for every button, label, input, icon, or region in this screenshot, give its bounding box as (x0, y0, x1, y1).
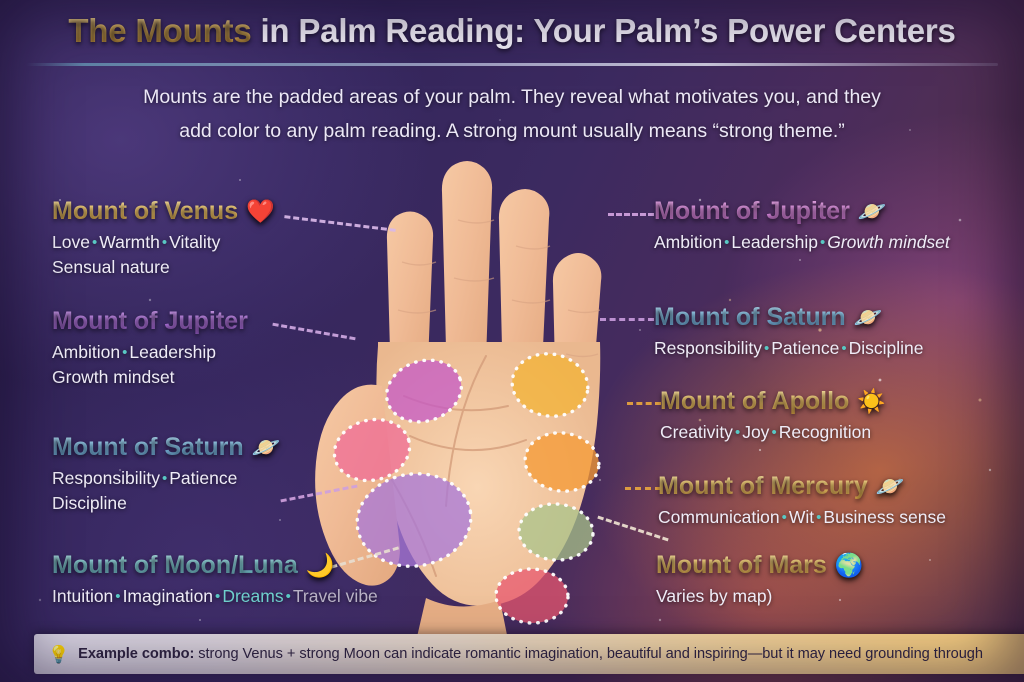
jupiter-planet-icon: 🪐 (858, 200, 887, 223)
title-highlight: The Mounts (68, 12, 251, 49)
entry-mount-of-venus[interactable]: Mount of Venus ❤️ Love•Warmth•Vitality S… (52, 196, 275, 280)
desc-line-1: Ambition•Leadership•Growth mindset (654, 232, 950, 252)
ringed-planet-icon: 🪐 (252, 436, 281, 459)
entry-description: Intuition•Imagination•Dreams•Travel vibe (52, 584, 378, 609)
title-divider (26, 63, 998, 66)
entry-description: Varies by map) (656, 584, 863, 609)
subtitle-line-1: Mounts are the padded areas of your palm… (60, 80, 964, 114)
desc-line-1: Love•Warmth•Vitality (52, 232, 220, 252)
poster-header: The Mounts in Palm Reading: Your Palm’s … (0, 12, 1024, 50)
entry-heading-text: Mount of Mars (656, 550, 827, 580)
sun-icon: ☀️ (857, 390, 886, 413)
entry-heading-text: Mount of Saturn (654, 302, 846, 332)
connector-mercury-right (625, 487, 661, 490)
desc-line-1: Ambition•Leadership (52, 342, 216, 362)
entry-heading-text: Mount of Apollo (660, 386, 849, 416)
mount-region-upper-mars[interactable] (495, 568, 569, 624)
desc-line-2: Sensual nature (52, 257, 170, 277)
desc-line-1: Responsibility•Patience (52, 468, 237, 488)
banner-label: Example combo: (78, 646, 194, 662)
entry-heading: Mount of Moon/Luna 🌙 (52, 550, 378, 580)
entry-description: Creativity•Joy•Recognition (660, 420, 886, 445)
entry-description: Love•Warmth•Vitality Sensual nature (52, 230, 275, 280)
entry-heading-text: Mount of Jupiter (52, 306, 248, 336)
entry-description: Ambition•Leadership•Growth mindset (654, 230, 950, 255)
page-title: The Mounts in Palm Reading: Your Palm’s … (0, 12, 1024, 50)
desc-line-1: Responsibility•Patience•Discipline (654, 338, 924, 358)
connector-jupiter-right (608, 213, 654, 216)
entry-mount-of-saturn-left[interactable]: Mount of Saturn 🪐 Responsibility•Patienc… (52, 432, 280, 516)
entry-heading-text: Mount of Moon/Luna (52, 550, 298, 580)
entry-description: Responsibility•Patience Discipline (52, 466, 280, 516)
desc-line-1: Intuition•Imagination•Dreams•Travel vibe (52, 586, 378, 606)
entry-heading: Mount of Mars 🌍 (656, 550, 863, 580)
entry-heading: Mount of Mercury 🪐 (658, 471, 946, 501)
desc-line-2: Growth mindset (52, 367, 175, 387)
entry-heading-text: Mount of Mercury (658, 471, 868, 501)
desc-line-1: Varies by map) (656, 586, 772, 606)
mars-planet-icon: 🌍 (835, 554, 864, 577)
entry-mount-of-jupiter-right[interactable]: Mount of Jupiter 🪐 Ambition•Leadership•G… (654, 196, 950, 255)
entry-heading: Mount of Saturn 🪐 (654, 302, 924, 332)
entry-heading: Mount of Saturn 🪐 (52, 432, 280, 462)
title-rest: in Palm Reading: Your Palm’s Power Cente… (252, 12, 956, 49)
infographic-poster: The Mounts in Palm Reading: Your Palm’s … (0, 0, 1024, 682)
entry-heading: Mount of Venus ❤️ (52, 196, 275, 226)
entry-heading-text: Mount of Saturn (52, 432, 244, 462)
entry-mount-of-jupiter-left[interactable]: Mount of Jupiter Ambition•Leadership Gro… (52, 306, 248, 390)
entry-heading-text: Mount of Jupiter (654, 196, 850, 226)
saturn-planet-icon: 🪐 (854, 306, 883, 329)
lightbulb-icon: 💡 (48, 646, 69, 663)
desc-line-1: Communication•Wit•Business sense (658, 507, 946, 527)
entry-mount-of-moon[interactable]: Mount of Moon/Luna 🌙 Intuition•Imaginati… (52, 550, 378, 609)
connector-apollo-right (627, 402, 661, 405)
entry-mount-of-mars[interactable]: Mount of Mars 🌍 Varies by map) (656, 550, 863, 609)
green-planet-icon: 🪐 (876, 475, 905, 498)
entry-heading: Mount of Apollo ☀️ (660, 386, 886, 416)
example-combo-banner: 💡 Example combo: strong Venus + strong M… (34, 634, 1024, 674)
entry-heading-text: Mount of Venus (52, 196, 238, 226)
desc-line-1: Creativity•Joy•Recognition (660, 422, 871, 442)
subtitle-line-2: add color to any palm reading. A strong … (60, 114, 964, 148)
entry-heading: Mount of Jupiter (52, 306, 248, 336)
desc-line-2: Discipline (52, 493, 127, 513)
entry-heading: Mount of Jupiter 🪐 (654, 196, 950, 226)
banner-text: Example combo: strong Venus + strong Moo… (78, 646, 983, 662)
crescent-moon-icon: 🌙 (306, 554, 335, 577)
connector-saturn-right (600, 318, 654, 321)
entry-mount-of-mercury[interactable]: Mount of Mercury 🪐 Communication•Wit•Bus… (658, 471, 946, 530)
entry-description: Communication•Wit•Business sense (658, 505, 946, 530)
heart-icon: ❤️ (246, 200, 275, 223)
entry-description: Responsibility•Patience•Discipline (654, 336, 924, 361)
entry-mount-of-apollo[interactable]: Mount of Apollo ☀️ Creativity•Joy•Recogn… (660, 386, 886, 445)
banner-body: strong Venus + strong Moon can indicate … (194, 646, 983, 662)
subtitle: Mounts are the padded areas of your palm… (60, 80, 964, 148)
entry-mount-of-saturn-right[interactable]: Mount of Saturn 🪐 Responsibility•Patienc… (654, 302, 924, 361)
entry-description: Ambition•Leadership Growth mindset (52, 340, 248, 390)
